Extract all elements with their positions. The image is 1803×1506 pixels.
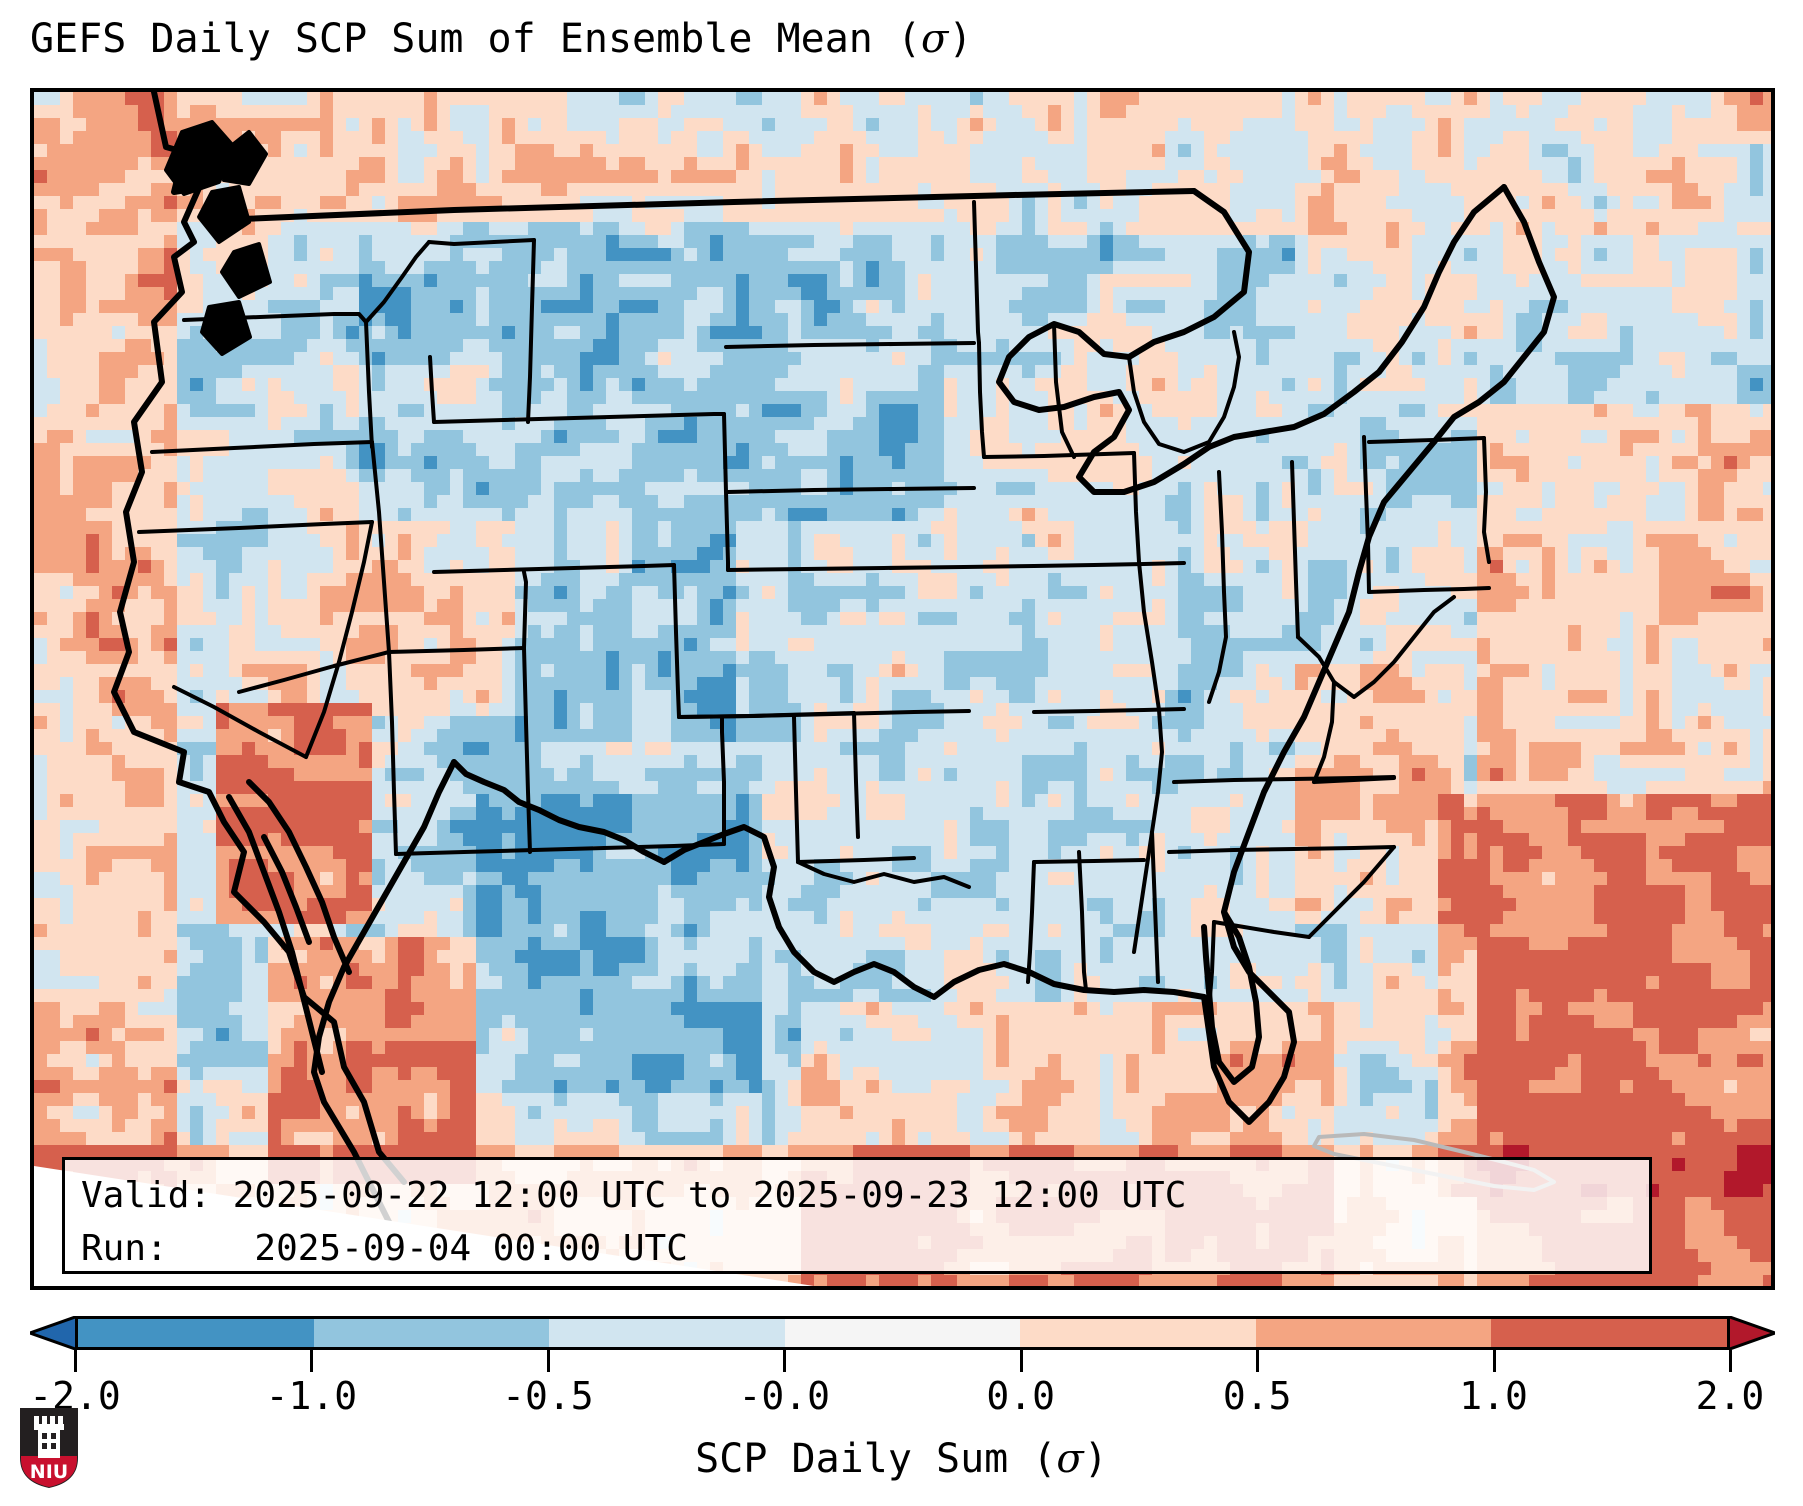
page-title-text: GEFS Daily SCP Sum of Ensemble Mean ( <box>30 16 921 62</box>
sigma-symbol: σ <box>921 16 948 62</box>
map-plot-area[interactable] <box>30 88 1775 1290</box>
page-title: GEFS Daily SCP Sum of Ensemble Mean (σ) <box>30 16 972 62</box>
page-title-tail: ) <box>948 16 972 62</box>
